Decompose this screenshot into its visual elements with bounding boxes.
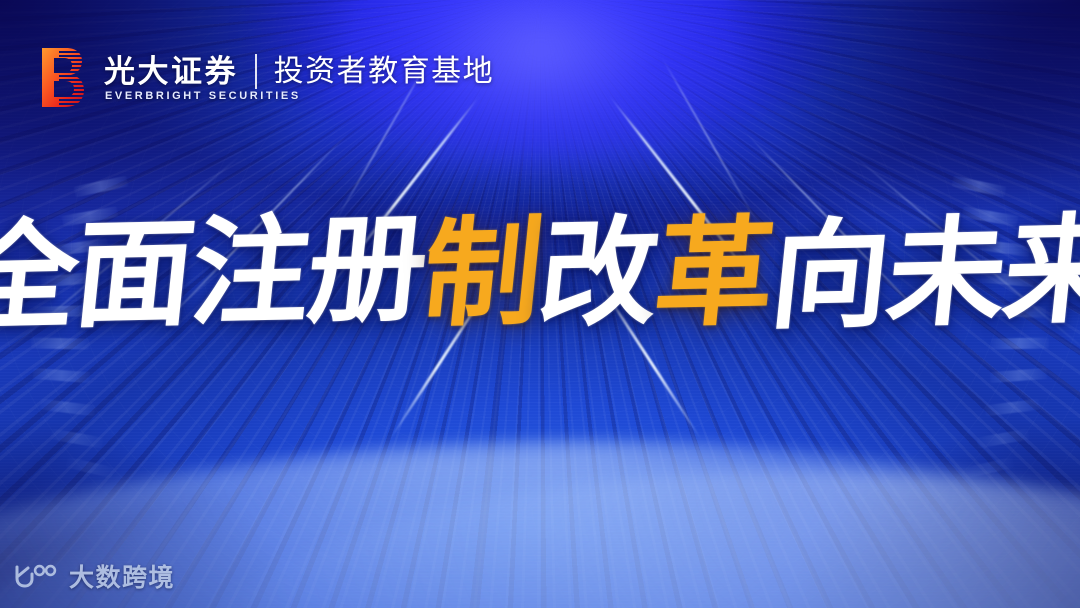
banner-stage: 光大证券 投资者教育基地 EVERBRIGHT SECURITIES 全面注册 … [0, 0, 1080, 608]
dashukuajing-k100-mark-icon [12, 563, 58, 589]
brand-name-en: EVERBRIGHT SECURITIES [104, 91, 494, 102]
brand-header: 光大证券 投资者教育基地 EVERBRIGHT SECURITIES [40, 47, 494, 109]
brand-divider [255, 54, 257, 89]
watermark-label: 大数跨境 [69, 558, 175, 594]
everbright-b-mark-icon [40, 47, 86, 109]
brand-text-block: 光大证券 投资者教育基地 EVERBRIGHT SECURITIES [104, 54, 494, 102]
side-dash-left-6 [31, 337, 89, 349]
brand-subtitle-cn: 投资者教育基地 [274, 56, 495, 88]
brand-primary-row: 光大证券 投资者教育基地 [104, 54, 494, 89]
side-dash-right-6 [991, 337, 1049, 349]
watermark: 大数跨境 [12, 558, 175, 594]
side-dash-right-5 [988, 305, 1046, 318]
brand-name-cn: 光大证券 [104, 56, 238, 88]
side-dash-left-5 [34, 305, 92, 318]
